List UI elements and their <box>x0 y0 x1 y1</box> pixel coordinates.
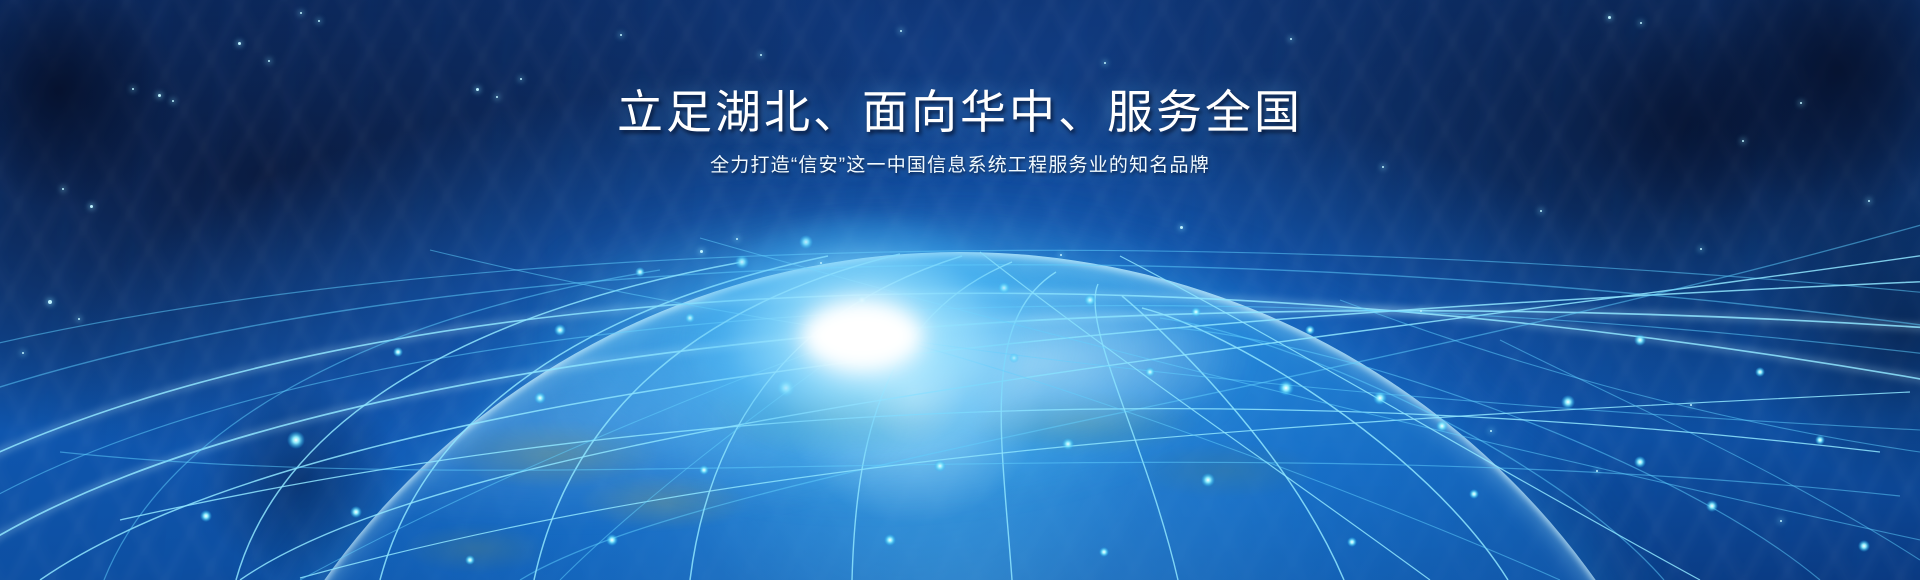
page-title: 立足湖北、面向华中、服务全国 <box>0 0 1920 139</box>
page-subtitle: 全力打造“信安”这一中国信息系统工程服务业的知名品牌 <box>0 139 1920 180</box>
hero-banner: 立足湖北、面向华中、服务全国 全力打造“信安”这一中国信息系统工程服务业的知名品… <box>0 0 1920 580</box>
banner-copy: 立足湖北、面向华中、服务全国 全力打造“信安”这一中国信息系统工程服务业的知名品… <box>0 0 1920 180</box>
